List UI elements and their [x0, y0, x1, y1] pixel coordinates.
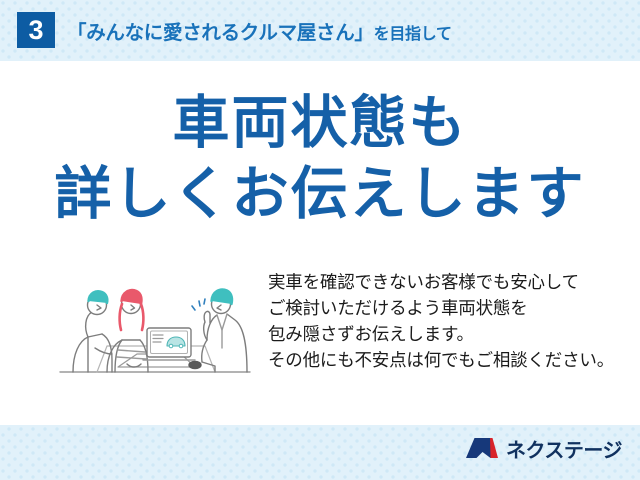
header-bar: 3 「みんなに愛されるクルマ屋さん」 を目指して: [0, 0, 640, 60]
body-line-4: その他にも不安点は何でもご相談ください。: [268, 348, 628, 374]
advertisement-poster: 3 「みんなに愛されるクルマ屋さん」 を目指して 車両状態も 詳しくお伝えします: [0, 0, 640, 480]
body-copy: 実車を確認できないお客様でも安心して ご検討いただけるよう車両状態を 包み隠さず…: [268, 270, 628, 374]
header-title-quoted: 「みんなに愛されるクルマ屋さん」: [67, 16, 374, 45]
headline-line-2: 詳しくお伝えします: [0, 165, 640, 223]
brand-logo: ネクステージ: [465, 433, 622, 463]
body-line-2: ご検討いただけるよう車両状態を: [268, 296, 628, 322]
consultation-illustration: [55, 268, 255, 388]
header-title-suffix: を目指して: [374, 20, 452, 44]
content-card: 車両状態も 詳しくお伝えします: [0, 61, 640, 425]
body-line-1: 実車を確認できないお客様でも安心して: [268, 270, 628, 296]
body-line-3: 包み隠さずお伝えします。: [268, 322, 628, 348]
footer-bar: ネクステージ: [0, 425, 640, 480]
step-number-badge: 3: [17, 12, 55, 48]
page-title: 車両状態も 詳しくお伝えします: [0, 94, 640, 223]
nextage-n-logo-icon: [465, 436, 499, 460]
header-title: 「みんなに愛されるクルマ屋さん」 を目指して: [67, 16, 452, 45]
headline-line-1: 車両状態も: [0, 94, 640, 152]
brand-name: ネクステージ: [506, 434, 622, 463]
lower-content: 実車を確認できないお客様でも安心して ご検討いただけるよう車両状態を 包み隠さず…: [0, 268, 640, 408]
